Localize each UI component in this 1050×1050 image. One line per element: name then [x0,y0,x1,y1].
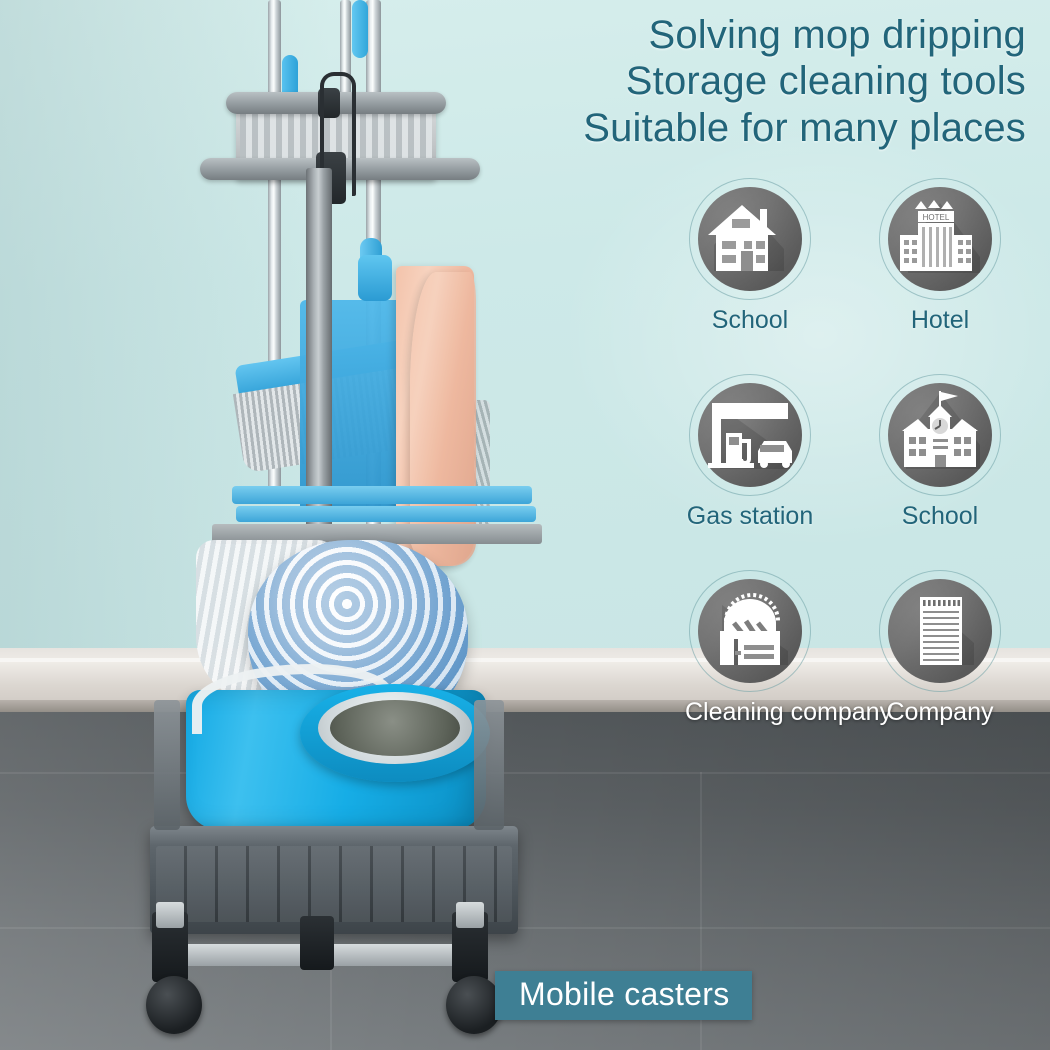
mop-clip-holder [358,255,392,301]
badge-circle [879,570,1001,692]
spin-basket-mesh [330,700,460,756]
use-case-cleaning-company[interactable]: Cleaning company [685,570,815,727]
svg-text:HOTEL: HOTEL [923,213,950,222]
headline-line-2: Storage cleaning tools [583,58,1026,104]
product-marketing-image: Solving mop dripping Storage cleaning to… [0,0,1050,1050]
crate-side-wall-left [154,700,180,830]
use-case-label: School [875,502,1005,531]
shop-awning-icon [698,579,802,683]
feature-banner: Mobile casters [495,971,752,1020]
notepad-icon [888,579,992,683]
handle-sleeve-blue-b [352,0,368,58]
caster-wheel-right [446,976,502,1034]
use-case-school-building[interactable]: School [875,374,1005,531]
badge-circle [879,374,1001,496]
flat-mop-pad-1 [232,486,532,504]
caster-sleeve-right [456,902,484,928]
headline: Solving mop dripping Storage cleaning to… [583,12,1026,151]
use-case-gas-station[interactable]: Gas station [685,374,815,531]
caster-sleeve-left [156,902,184,928]
headline-line-1: Solving mop dripping [583,12,1026,58]
badge-circle [689,374,811,496]
house-icon [698,187,802,291]
use-case-label: Company [875,698,1005,727]
use-case-label: Cleaning company [685,698,815,727]
hotel-icon: HOTEL [888,187,992,291]
use-case-hotel[interactable]: HOTEL [875,178,1005,335]
badge-circle [689,178,811,300]
headline-line-3: Suitable for many places [583,105,1026,151]
badge-circle: HOTEL [879,178,1001,300]
caster-wheel-left [146,976,202,1034]
schoolhouse-icon [888,383,992,487]
flat-mop-pad-2 [236,506,536,522]
use-case-company[interactable]: Company [875,570,1005,727]
use-case-label: School [685,306,815,335]
badge-circle [689,570,811,692]
cleaning-trolley [0,0,600,1050]
use-case-label: Gas station [685,502,815,531]
use-case-label: Hotel [875,306,1005,335]
gas-station-icon [698,383,802,487]
caster-leg-mid [300,916,334,970]
crate-side-wall-right [474,700,504,830]
use-case-school-house[interactable]: School [685,178,815,335]
